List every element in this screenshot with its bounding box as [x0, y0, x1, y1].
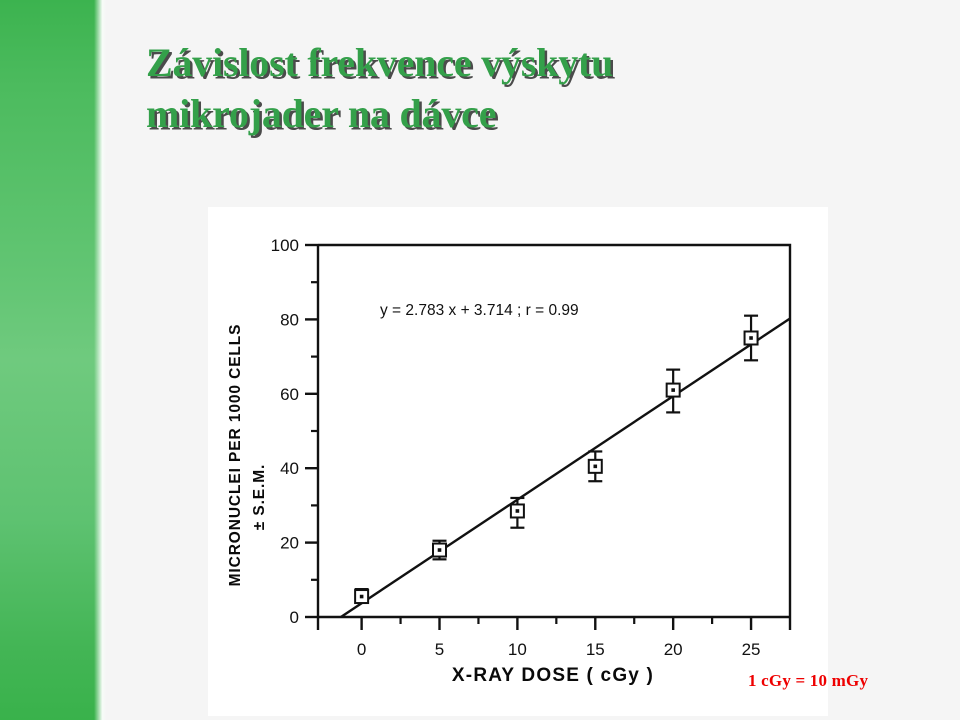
sidebar-fade-edge — [94, 0, 106, 720]
x-tick-label: 25 — [742, 640, 761, 659]
title-line-1: Závislost frekvence výskytu — [146, 38, 846, 89]
data-point — [355, 589, 369, 603]
x-tick-label: 0 — [357, 640, 366, 659]
scatter-plot: 0204060801000510152025 y = 2.783 x + 3.7… — [208, 207, 828, 716]
y-tick-label: 60 — [280, 385, 299, 404]
page-title: Závislost frekvence výskytu mikrojader n… — [146, 38, 846, 140]
slide-canvas: Závislost frekvence výskytu mikrojader n… — [0, 0, 960, 720]
y-axis-label-line-1: MICRONUCLEI PER 1000 CELLS — [227, 324, 244, 587]
x-tick-label: 20 — [664, 640, 683, 659]
green-gradient-band — [0, 0, 106, 720]
title-line-2: mikrojader na dávce — [146, 89, 846, 140]
y-tick-label: 40 — [280, 459, 299, 478]
x-tick-label: 5 — [435, 640, 444, 659]
y-tick-label: 0 — [290, 608, 299, 627]
decorative-sidebar — [0, 0, 106, 720]
data-point — [433, 541, 447, 560]
y-tick-label: 20 — [280, 534, 299, 553]
equation-annotation: y = 2.783 x + 3.714 ; r = 0.99 — [380, 302, 579, 319]
unit-conversion-footnote: 1 cGy = 10 mGy — [748, 671, 868, 691]
x-axis-label: X-RAY DOSE ( cGy ) — [452, 665, 654, 686]
figure-panel: 0204060801000510152025 y = 2.783 x + 3.7… — [208, 207, 828, 716]
x-tick-label: 15 — [586, 640, 605, 659]
y-tick-label: 80 — [280, 310, 299, 329]
x-tick-label: 10 — [508, 640, 527, 659]
y-axis-label-line-2: ± S.E.M. — [251, 464, 268, 531]
y-tick-label: 100 — [271, 236, 299, 255]
